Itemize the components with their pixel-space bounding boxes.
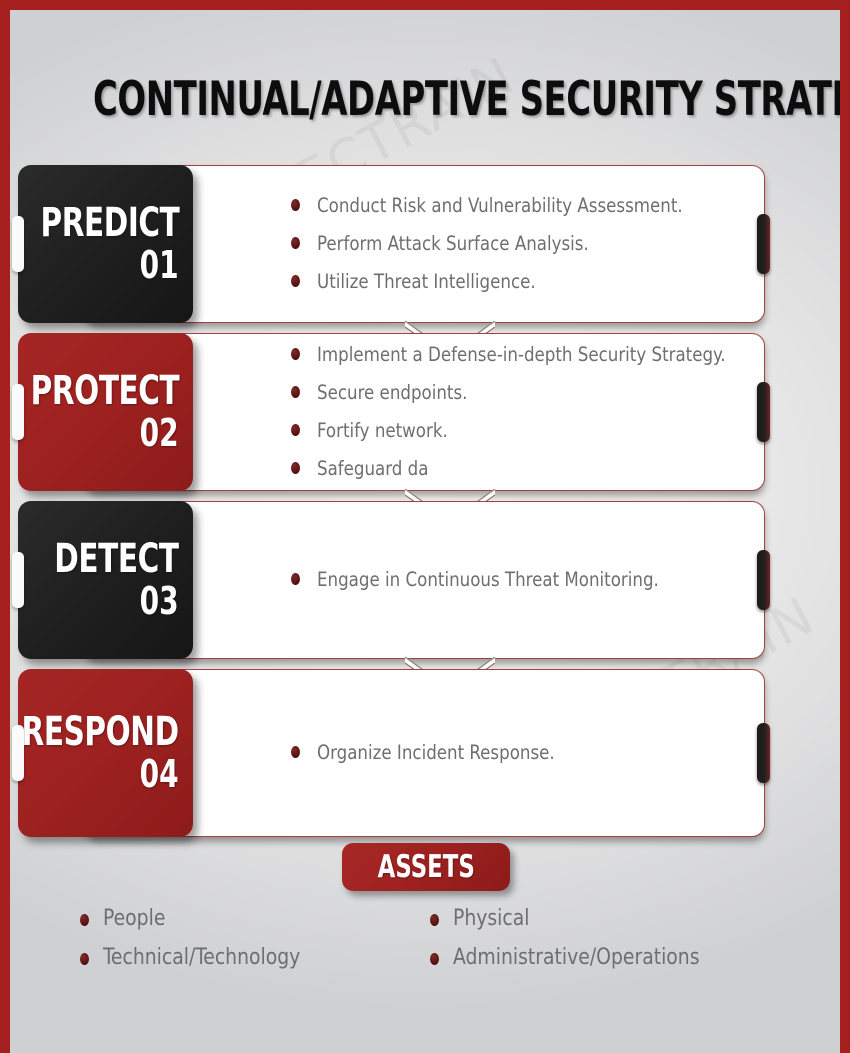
assets-badge-label: ASSETS xyxy=(377,849,474,885)
step-row: Implement a Defense-in-depth Security St… xyxy=(10,333,840,491)
step-name: PROTECT xyxy=(30,371,179,412)
panel-left-tab-icon xyxy=(12,552,24,608)
list-item-label: Organize Incident Response. xyxy=(317,739,555,767)
list-item: Safeguard da xyxy=(291,455,728,483)
list-item-label: Utilize Threat Intelligence. xyxy=(317,268,536,296)
asset-label: Administrative/Operations xyxy=(453,944,700,973)
step-label-block-01[interactable]: PREDICT01 xyxy=(18,165,193,323)
bullet-dot-icon xyxy=(291,386,300,398)
step-bullet-list: Conduct Risk and Vulnerability Assessmen… xyxy=(291,166,728,322)
panel-right-tab-icon xyxy=(757,214,770,274)
list-item: Implement a Defense-in-depth Security St… xyxy=(291,341,728,369)
panel-left-tab-icon xyxy=(12,216,24,272)
step-row: Organize Incident Response.RESPOND04 xyxy=(10,669,840,837)
asset-label: Physical xyxy=(453,905,529,934)
step-number: 02 xyxy=(140,414,179,453)
assets-badge: ASSETS xyxy=(342,843,510,891)
bullet-dot-icon xyxy=(291,275,300,287)
step-row: Conduct Risk and Vulnerability Assessmen… xyxy=(10,165,840,323)
step-name: PREDICT xyxy=(40,203,179,244)
bullet-dot-icon xyxy=(80,953,89,965)
list-item: Perform Attack Surface Analysis. xyxy=(291,230,728,258)
step-label-block-02[interactable]: PROTECT02 xyxy=(18,333,193,491)
bullet-dot-icon xyxy=(291,199,300,211)
asset-list-item: Administrative/Operations xyxy=(430,944,780,973)
panel-right-tab-icon xyxy=(757,550,770,610)
list-item: Fortify network. xyxy=(291,417,728,445)
list-item: Utilize Threat Intelligence. xyxy=(291,268,728,296)
list-item-label: Engage in Continuous Threat Monitoring. xyxy=(317,566,659,594)
bullet-dot-icon xyxy=(291,746,300,758)
bullet-dot-icon xyxy=(291,348,300,360)
panel-right-tab-icon xyxy=(757,382,770,442)
list-item-label: Conduct Risk and Vulnerability Assessmen… xyxy=(317,192,683,220)
step-number: 01 xyxy=(140,246,179,285)
list-item-label: Fortify network. xyxy=(317,417,448,445)
step-number: 04 xyxy=(140,755,179,794)
asset-list-item: People xyxy=(80,905,430,934)
list-item-label: Perform Attack Surface Analysis. xyxy=(317,230,589,258)
step-name: DETECT xyxy=(55,539,179,580)
panel-right-tab-icon xyxy=(757,723,770,783)
asset-list-item: Physical xyxy=(430,905,780,934)
infographic-frame: INFOSECTRAIN INFOSECTRAIN CONTINUAL/ADAP… xyxy=(10,10,840,1053)
list-item-label: Safeguard da xyxy=(317,455,428,483)
step-label-block-03[interactable]: DETECT03 xyxy=(18,501,193,659)
list-item: Secure endpoints. xyxy=(291,379,728,407)
bullet-dot-icon xyxy=(291,424,300,436)
step-name: RESPOND xyxy=(22,712,179,753)
step-bullet-list: Implement a Defense-in-depth Security St… xyxy=(291,334,728,490)
list-item-label: Implement a Defense-in-depth Security St… xyxy=(317,341,726,369)
list-item: Conduct Risk and Vulnerability Assessmen… xyxy=(291,192,728,220)
panel-left-tab-icon xyxy=(12,384,24,440)
asset-label: Technical/Technology xyxy=(103,944,300,973)
bullet-dot-icon xyxy=(291,573,300,585)
bullet-dot-icon xyxy=(291,462,300,474)
page-title: CONTINUAL/ADAPTIVE SECURITY STRATEGY xyxy=(93,72,757,127)
list-item: Organize Incident Response. xyxy=(291,739,728,767)
asset-label: People xyxy=(103,905,165,934)
step-row: Engage in Continuous Threat Monitoring.D… xyxy=(10,501,840,659)
asset-list-item: Technical/Technology xyxy=(80,944,430,973)
list-item: Engage in Continuous Threat Monitoring. xyxy=(291,566,728,594)
step-label-block-04[interactable]: RESPOND04 xyxy=(18,669,193,837)
step-bullet-list: Organize Incident Response. xyxy=(291,670,728,836)
list-item-label: Secure endpoints. xyxy=(317,379,467,407)
bullet-dot-icon xyxy=(80,914,89,926)
bullet-dot-icon xyxy=(430,914,439,926)
step-number: 03 xyxy=(140,582,179,621)
bullet-dot-icon xyxy=(430,953,439,965)
bullet-dot-icon xyxy=(291,237,300,249)
assets-list: PeoplePhysicalTechnical/Technology Admin… xyxy=(80,905,800,972)
step-bullet-list: Engage in Continuous Threat Monitoring. xyxy=(291,502,728,658)
